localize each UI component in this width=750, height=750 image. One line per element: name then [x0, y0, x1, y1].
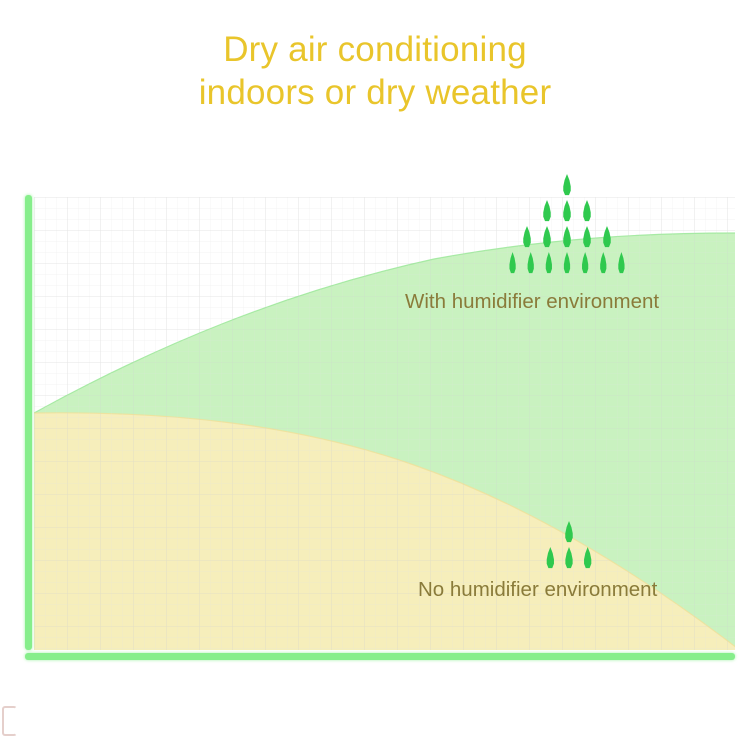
water-droplet-icon: [562, 174, 573, 196]
water-droplet-icon: [545, 547, 556, 569]
water-droplet-icon: [544, 252, 553, 274]
water-droplet-icon: [599, 252, 608, 274]
infographic-page: Dry air conditioning indoors or dry weat…: [0, 0, 750, 750]
title-line-2: indoors or dry weather: [0, 71, 750, 114]
droplet-cluster-dense: [508, 174, 626, 278]
droplet-row: [508, 226, 626, 248]
water-droplet-icon: [582, 226, 593, 248]
water-droplet-icon: [564, 521, 575, 543]
water-droplet-icon: [562, 252, 571, 274]
chart-x-axis: [25, 653, 735, 660]
water-droplet-icon: [582, 200, 593, 222]
droplet-row: [545, 521, 593, 543]
title-line-1: Dry air conditioning: [0, 28, 750, 71]
label-with-humidifier: With humidifier environment: [405, 290, 659, 314]
water-droplet-icon: [526, 252, 535, 274]
label-no-humidifier: No humidifier environment: [418, 578, 657, 602]
water-droplet-icon: [562, 200, 573, 222]
water-droplet-icon: [564, 547, 575, 569]
chart-y-axis: [25, 195, 32, 650]
water-droplet-icon: [581, 252, 590, 274]
droplet-row: [508, 252, 626, 274]
water-droplet-icon: [582, 547, 593, 569]
water-droplet-icon: [617, 252, 626, 274]
water-droplet-icon: [562, 226, 573, 248]
droplet-row: [508, 174, 626, 196]
water-droplet-icon: [522, 226, 533, 248]
corner-artifact: [2, 706, 17, 736]
water-droplet-icon: [542, 226, 553, 248]
droplet-cluster-sparse: [545, 521, 593, 573]
water-droplet-icon: [542, 200, 553, 222]
page-title: Dry air conditioning indoors or dry weat…: [0, 28, 750, 115]
droplet-row: [545, 547, 593, 569]
droplet-row: [508, 200, 626, 222]
water-droplet-icon: [508, 252, 517, 274]
water-droplet-icon: [602, 226, 613, 248]
